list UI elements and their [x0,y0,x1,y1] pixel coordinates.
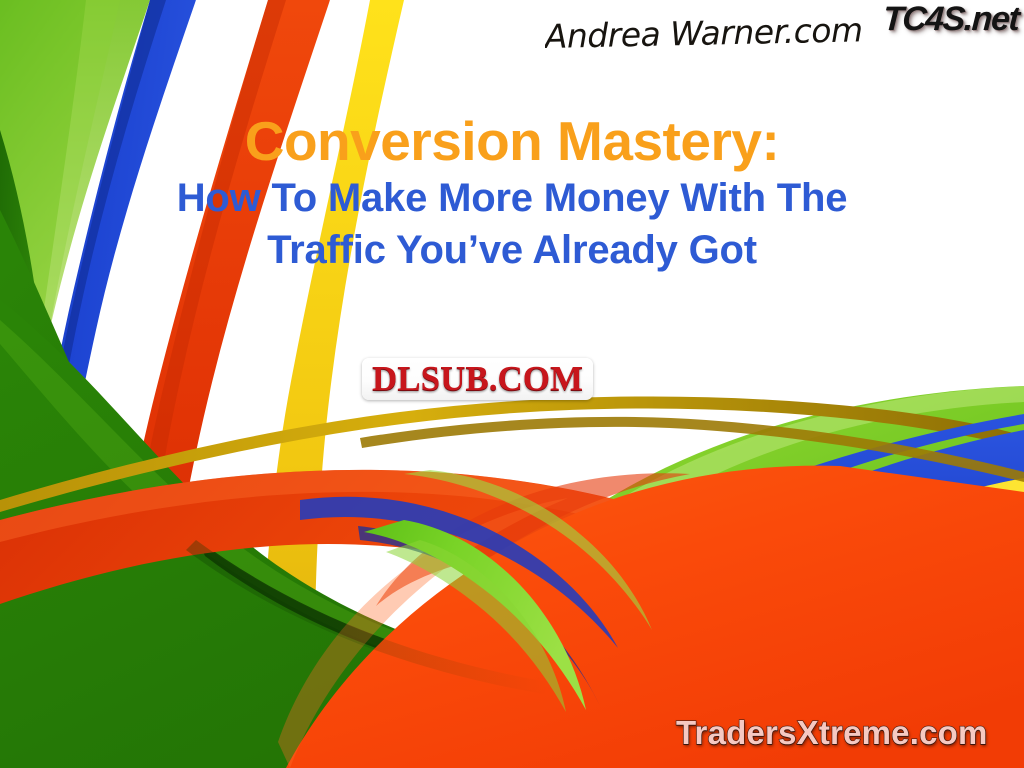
slide-subtitle: How To Make More Money With The Traffic … [150,173,874,275]
slide-title: Conversion Mastery: [150,112,874,171]
slide-subtitle-line-2: Traffic You’ve Already Got [150,225,874,276]
watermark-tradersxtreme: TradersXtreme.com [676,716,988,749]
signature-text: Andrea Warner.com [545,10,863,56]
watermark-dlsub-text: DLSUB.COM [372,361,583,396]
slide-canvas: Andrea Warner.com Conversion Mastery: Ho… [0,0,1024,768]
watermark-tc4s: TC4S.net [882,0,1019,39]
watermark-dlsub-plate: DLSUB.COM [362,358,593,400]
handwritten-signature: Andrea Warner.com [545,6,935,62]
title-block: Conversion Mastery: How To Make More Mon… [150,112,874,276]
slide-subtitle-line-1: How To Make More Money With The [150,173,874,224]
